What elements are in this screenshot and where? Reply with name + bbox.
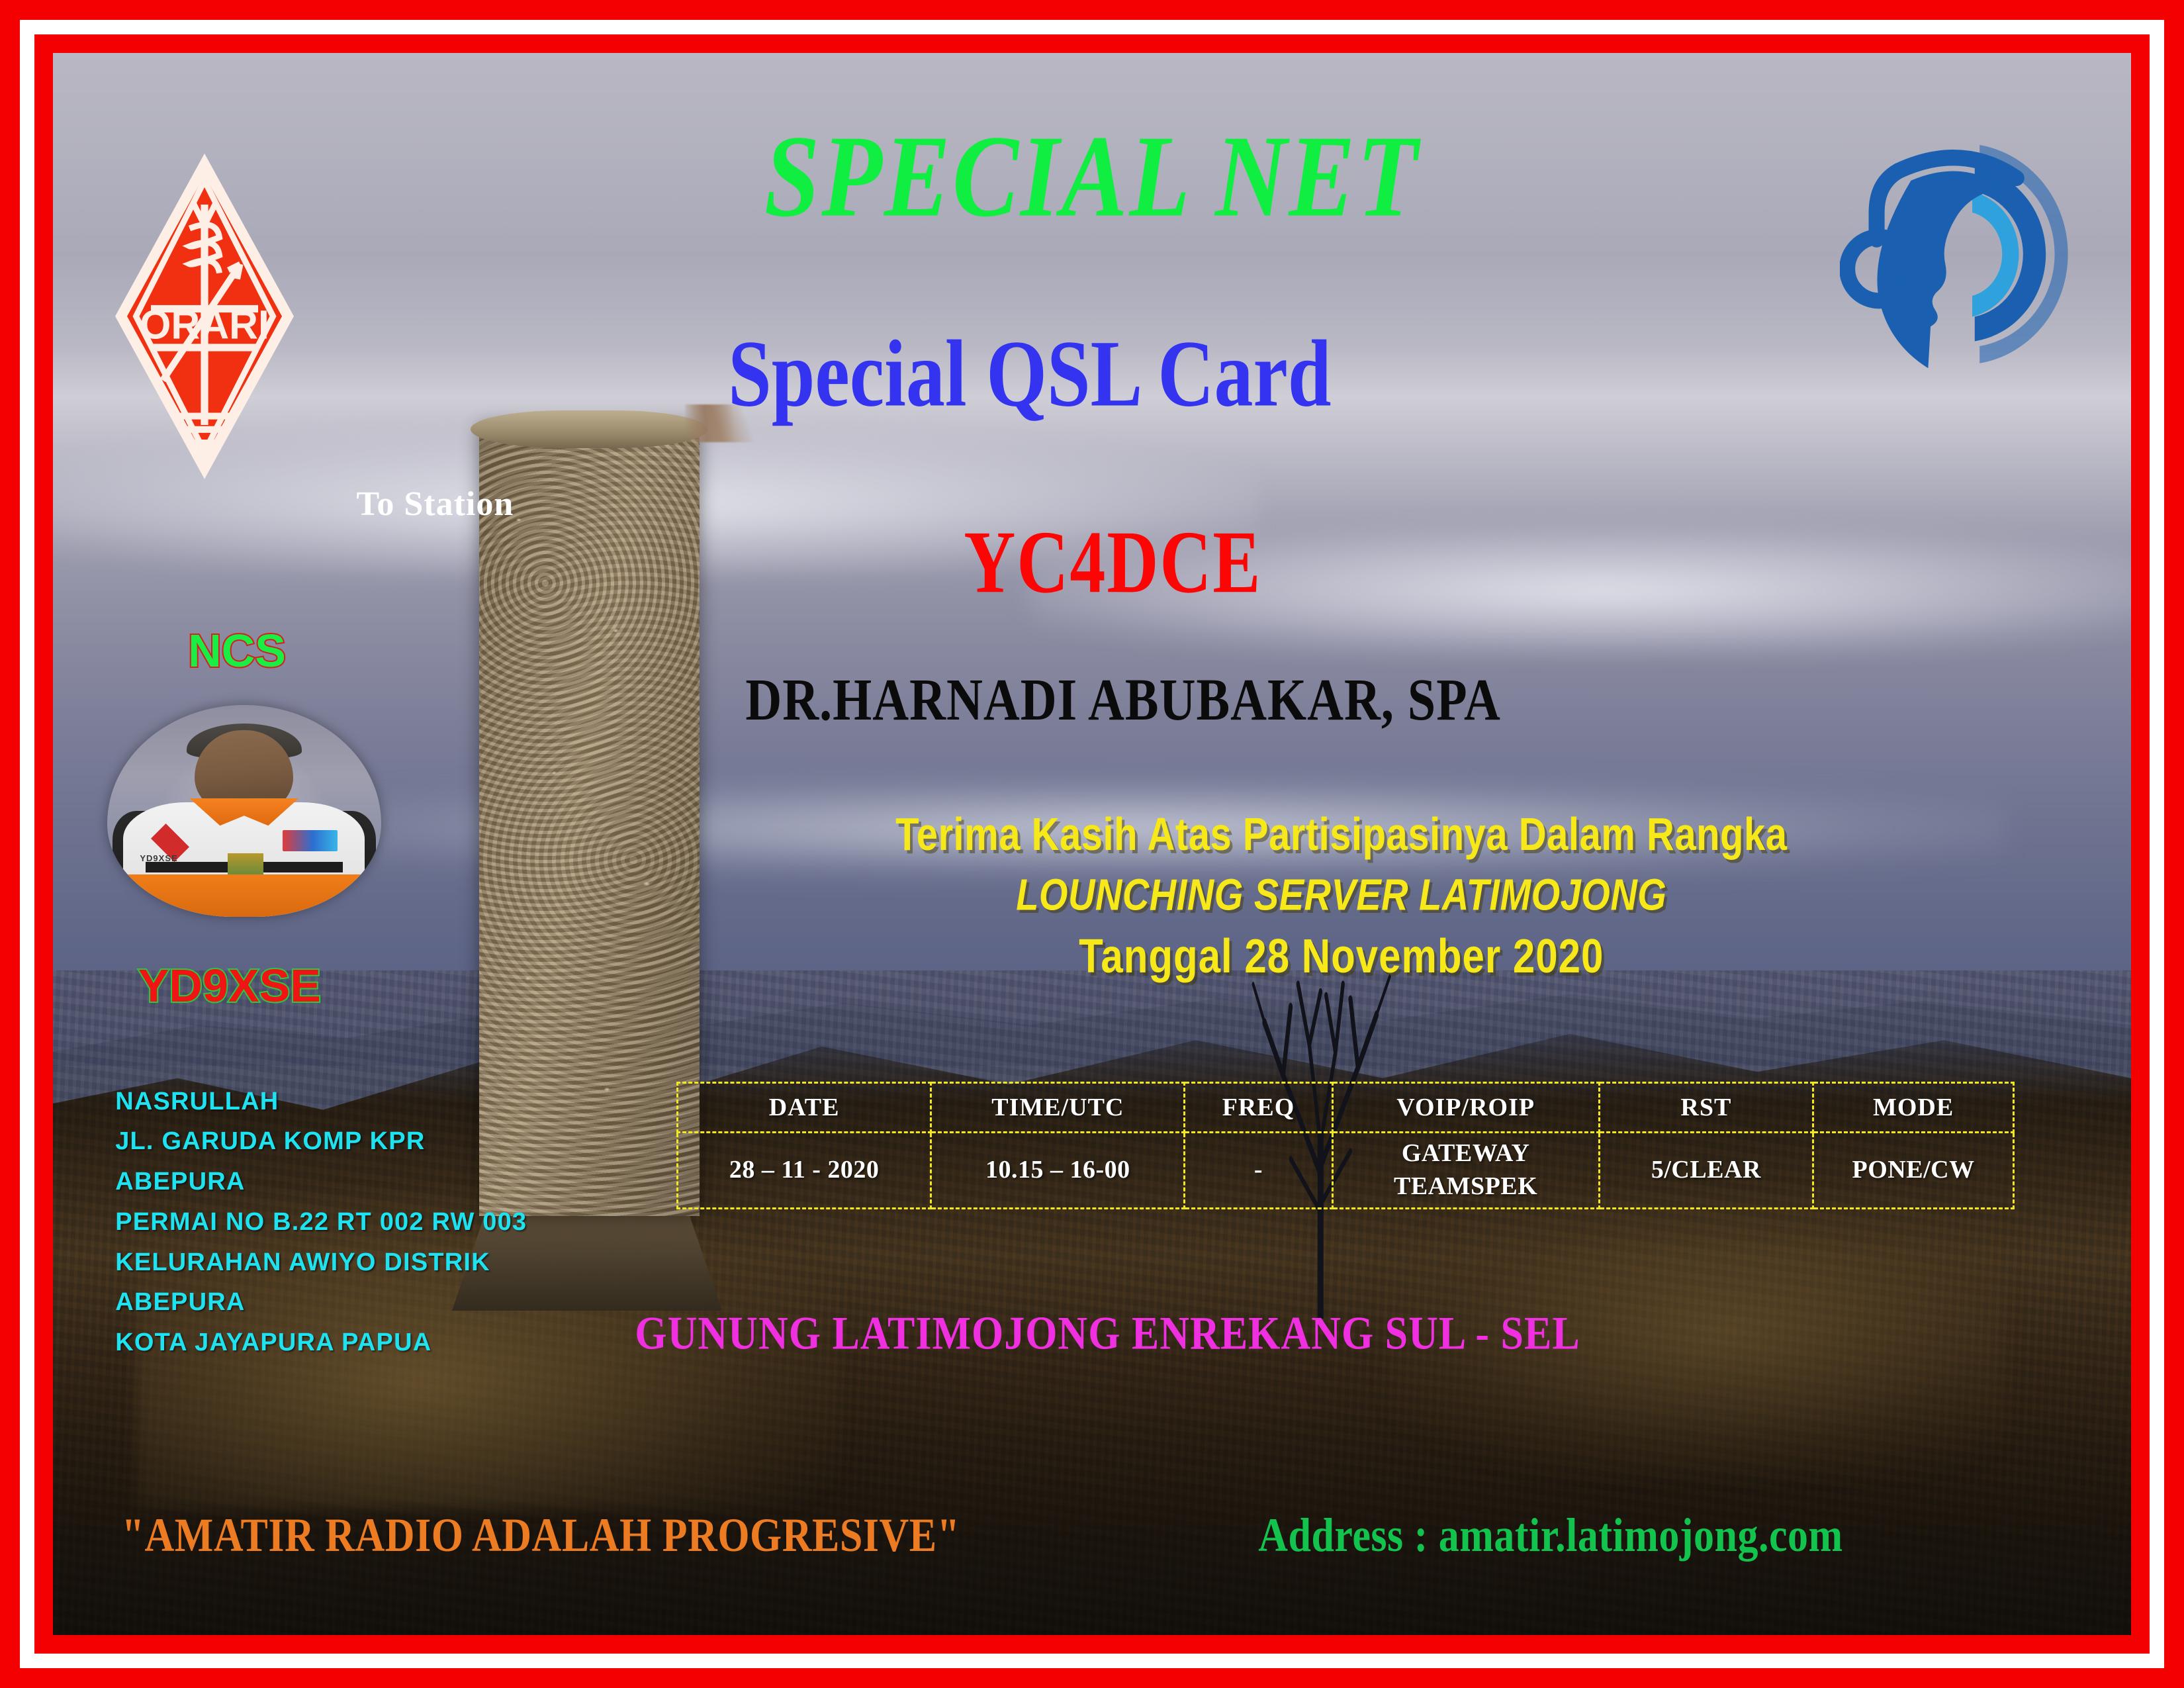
qsl-card-photo-stage: ORARI SPECIAL NET Special QSL Card <box>53 53 2131 1635</box>
column-header-date: DATE <box>678 1082 931 1132</box>
footer-slogan: "AMATIR RADIO ADALAH PROGRESIVE" <box>122 1509 960 1563</box>
avatar-shirt-callsign: YD9XSE <box>140 853 177 863</box>
column-header-mode: MODE <box>1813 1082 2013 1132</box>
qsl-card-outer-frame: ORARI SPECIAL NET Special QSL Card <box>0 0 2184 1688</box>
cell-voip: GATEWAY TEAMSPEK <box>1332 1132 1599 1208</box>
ncs-label: NCS <box>188 624 286 677</box>
event-message-block: Terima Kasih Atas Partisipasinya Dalam R… <box>635 806 2048 975</box>
location-line: GUNUNG LATIMOJONG ENREKANG SUL - SEL <box>53 1307 2131 1361</box>
qsl-card-inner-frame: ORARI SPECIAL NET Special QSL Card <box>34 34 2150 1654</box>
avatar-orange-hem <box>123 874 365 917</box>
footer-address-url: Address : amatir.latimojong.com <box>1258 1509 1843 1563</box>
column-header-voip: VOIP/ROIP <box>1332 1082 1599 1132</box>
cell-mode: PONE/CW <box>1813 1132 2013 1208</box>
address-line: NASRULLAH <box>115 1082 655 1122</box>
address-line: PERMAI NO B.22 RT 002 RW 003 <box>115 1202 655 1243</box>
qsl-card-white-band: ORARI SPECIAL NET Special QSL Card <box>20 20 2164 1668</box>
operator-name: DR.HARNADI ABUBAKAR, SPA <box>53 667 2131 735</box>
table-header-row: DATE TIME/UTC FREQ VOIP/ROIP RST MODE <box>678 1082 2014 1132</box>
address-line: ABEPURA <box>115 1162 655 1202</box>
event-line-1: Terima Kasih Atas Partisipasinya Dalam R… <box>635 806 2048 864</box>
address-line: JL. GARUDA KOMP KPR <box>115 1121 655 1162</box>
avatar-badge-right <box>283 830 338 851</box>
cell-freq: - <box>1185 1132 1332 1208</box>
cell-date: 28 – 11 - 2020 <box>678 1132 931 1208</box>
card-content-layer: ORARI SPECIAL NET Special QSL Card <box>53 53 2131 1635</box>
cell-rst: 5/CLEAR <box>1599 1132 1813 1208</box>
column-header-freq: FREQ <box>1185 1082 1332 1132</box>
cell-time: 10.15 – 16-00 <box>931 1132 1185 1208</box>
event-line-3: Tanggal 28 November 2020 <box>635 929 2048 984</box>
page-title: SPECIAL NET <box>53 118 2131 235</box>
column-header-time: TIME/UTC <box>931 1082 1185 1132</box>
page-subtitle: Special QSL Card <box>53 326 2069 422</box>
column-header-rst: RST <box>1599 1082 1813 1132</box>
address-line: KELURAHAN AWIYO DISTRIK <box>115 1243 655 1283</box>
ncs-callsign: YD9XSE <box>138 959 321 1012</box>
qso-log-table: DATE TIME/UTC FREQ VOIP/ROIP RST MODE 28… <box>676 1082 2015 1209</box>
event-line-2: LOUNCHING SERVER LATIMOJONG <box>635 868 2048 920</box>
table-row: 28 – 11 - 2020 10.15 – 16-00 - GATEWAY T… <box>678 1132 2014 1208</box>
station-callsign: YC4DCE <box>53 512 2131 614</box>
ncs-operator-avatar: YD9XSE <box>107 705 381 917</box>
